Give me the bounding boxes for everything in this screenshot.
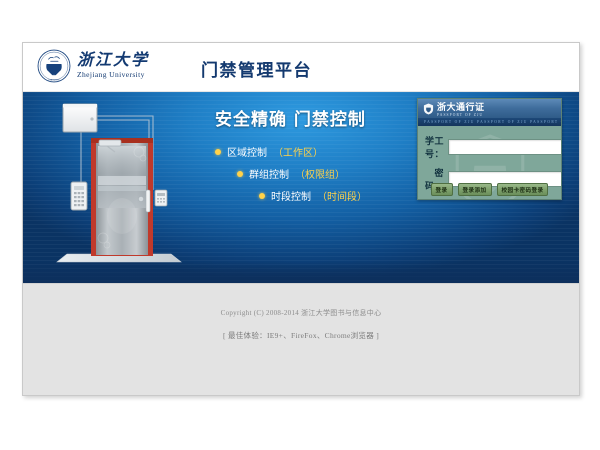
list-item: 时段控制 （时间段）: [259, 188, 430, 203]
hero-banner: 安全精确 门禁控制 区域控制 （工作区） 群组控制 （权限组） 时段控制 （时间…: [23, 92, 579, 283]
logo-text-en: Zhejiang University: [77, 71, 149, 79]
passport-pattern-strip: PASSPORT OF ZJU PASSPORT OF ZJU PASSPORT…: [418, 118, 561, 126]
banner-headline: 安全精确 门禁控制: [215, 105, 430, 130]
login-form: 学工号： 密 码： 登录 登录添加 校园卡密码登录: [418, 126, 561, 192]
bullet-paren: （工作区）: [273, 144, 323, 159]
site-header: ZHEJIANG 浙江大学 Zhejiang University 门禁管理平台: [23, 43, 579, 92]
banner-bottom-fade: [23, 261, 579, 283]
browser-compatibility-note: [ 最佳体验：IE9+、FireFox、Chrome浏览器 ]: [23, 330, 579, 341]
bullet-label: 群组控制: [249, 166, 289, 181]
bullet-label: 时段控制: [271, 188, 311, 203]
login-panel-header: 浙大通行证 PASSPORT OF ZJU: [418, 99, 561, 118]
logo-wordmark: 浙江大学 Zhejiang University: [77, 53, 149, 79]
site-footer: Copyright (C) 2008-2014 浙江大学图书与信息中心 [ 最佳…: [23, 283, 579, 396]
shield-icon: [423, 103, 434, 115]
bullet-paren: （时间段）: [317, 188, 367, 203]
university-logo[interactable]: ZHEJIANG 浙江大学 Zhejiang University: [37, 49, 149, 83]
bullet-dot-icon: [215, 149, 221, 155]
list-item: 区域控制 （工作区）: [215, 144, 430, 159]
banner-copy: 安全精确 门禁控制 区域控制 （工作区） 群组控制 （权限组） 时段控制 （时间…: [215, 105, 430, 210]
svg-text:ZHEJIANG: ZHEJIANG: [48, 79, 60, 82]
page-title: 门禁管理平台: [201, 56, 312, 81]
login-panel: 浙大通行证 PASSPORT OF ZJU PASSPORT OF ZJU PA…: [417, 98, 562, 200]
logo-text-cn: 浙江大学: [77, 53, 149, 70]
bullet-label: 区域控制: [227, 144, 267, 159]
passport-title-en: PASSPORT OF ZJU: [437, 113, 483, 117]
campus-card-login-button[interactable]: 校园卡密码登录: [497, 183, 549, 196]
login-button[interactable]: 登录: [431, 183, 453, 196]
passport-title-cn: 浙大通行证: [437, 104, 485, 113]
zju-seal-icon: ZHEJIANG: [37, 49, 71, 83]
field-row-userid: 学工号：: [425, 134, 554, 160]
passport-strip-text: PASSPORT OF ZJU PASSPORT OF ZJU PASSPORT…: [418, 120, 561, 124]
feature-bullet-list: 区域控制 （工作区） 群组控制 （权限组） 时段控制 （时间段）: [215, 144, 430, 203]
bullet-dot-icon: [237, 171, 243, 177]
login-add-button[interactable]: 登录添加: [458, 183, 492, 196]
userid-input[interactable]: [448, 139, 562, 155]
login-button-row: 登录 登录添加 校园卡密码登录: [418, 183, 561, 196]
userid-label: 学工号：: [425, 134, 448, 160]
list-item: 群组控制 （权限组）: [237, 166, 430, 181]
bullet-dot-icon: [259, 193, 265, 199]
page-frame: ZHEJIANG 浙江大学 Zhejiang University 门禁管理平台: [22, 42, 580, 396]
copyright-text: Copyright (C) 2008-2014 浙江大学图书与信息中心: [23, 284, 579, 318]
bullet-paren: （权限组）: [295, 166, 345, 181]
access-control-door-illustration: [49, 98, 189, 270]
